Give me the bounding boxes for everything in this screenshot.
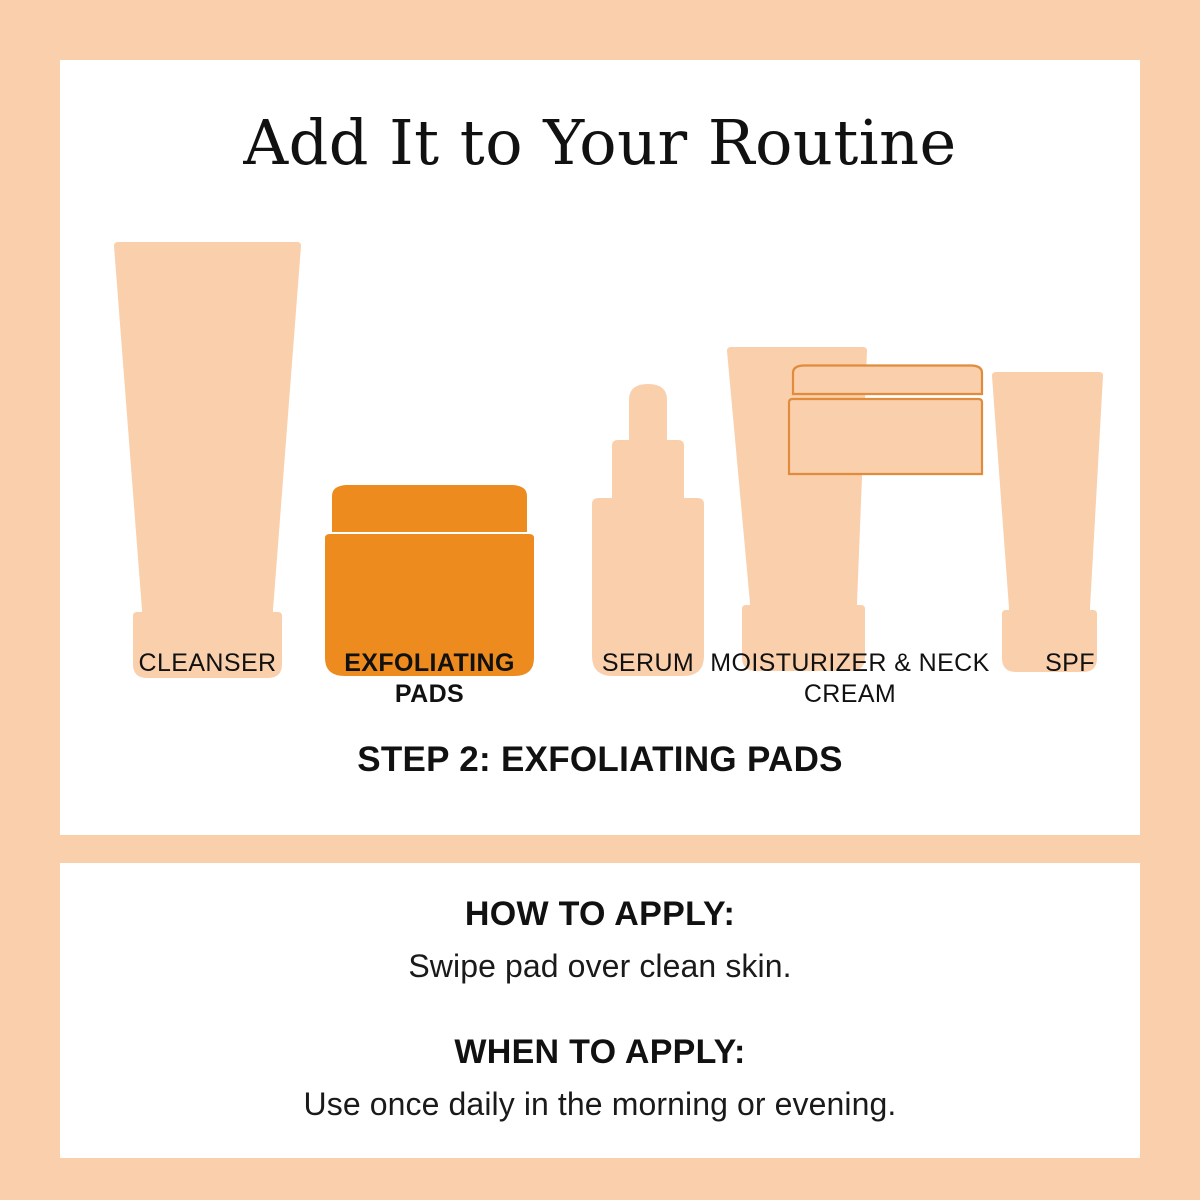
instructions-card: HOW TO APPLY: Swipe pad over clean skin.…	[60, 863, 1140, 1158]
product-cleanser	[100, 240, 315, 680]
how-to-apply-heading: HOW TO APPLY:	[60, 895, 1140, 934]
how-to-apply-block: HOW TO APPLY: Swipe pad over clean skin.	[60, 895, 1140, 985]
product-spf	[985, 370, 1110, 680]
when-to-apply-block: WHEN TO APPLY: Use once daily in the mor…	[60, 1033, 1140, 1123]
product-label-exfoliating-pads: EXFOLIATING PADS	[312, 648, 547, 710]
when-to-apply-text: Use once daily in the morning or evening…	[60, 1086, 1140, 1123]
neck-cream-lid-shape	[793, 366, 982, 395]
routine-card: Add It to Your Routine CLEANSER EXFOLIAT…	[60, 60, 1140, 835]
serum-collar-shape	[612, 440, 684, 498]
infographic-poster: Add It to Your Routine CLEANSER EXFOLIAT…	[0, 0, 1200, 1200]
product-row: CLEANSER EXFOLIATING PADS	[60, 60, 1140, 680]
how-to-apply-text: Swipe pad over clean skin.	[60, 948, 1140, 985]
moisturizer-tube-shape	[727, 347, 867, 671]
product-serum	[588, 380, 708, 680]
spf-tube-shape	[992, 372, 1103, 672]
jar-lid-shape	[332, 485, 527, 532]
cleanser-tube-shape	[114, 242, 301, 678]
product-label-spf: SPF	[995, 648, 1145, 679]
when-to-apply-heading: WHEN TO APPLY:	[60, 1033, 1140, 1072]
step-heading: STEP 2: EXFOLIATING PADS	[60, 740, 1140, 780]
product-label-moisturizer: MOISTURIZER & NECK CREAM	[690, 648, 1010, 710]
product-moisturizer	[715, 345, 985, 680]
serum-bulb-shape	[629, 384, 667, 442]
product-label-cleanser: CLEANSER	[80, 648, 335, 679]
neck-cream-body-shape	[789, 399, 982, 474]
